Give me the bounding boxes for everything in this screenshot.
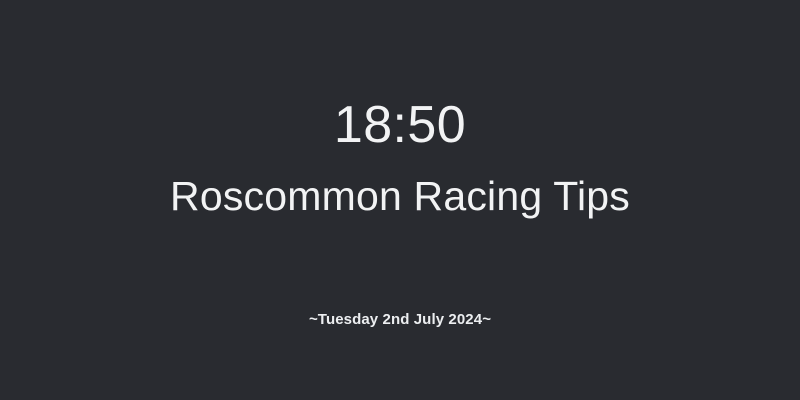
page-title: Roscommon Racing Tips xyxy=(0,170,800,222)
race-tips-hero-card: 18:50 Roscommon Racing Tips ~Tuesday 2nd… xyxy=(0,0,800,400)
race-time-heading: 18:50 xyxy=(0,96,800,154)
empty-content-region xyxy=(0,340,800,400)
race-date-subtitle: ~Tuesday 2nd July 2024~ xyxy=(0,309,800,331)
